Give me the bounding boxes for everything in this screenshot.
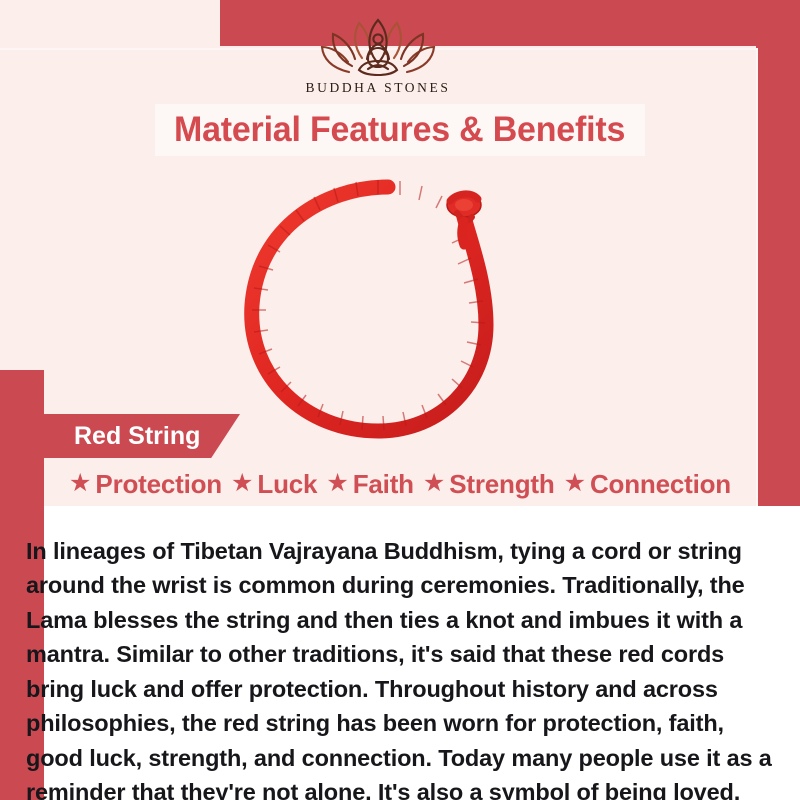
benefit-item: ★ Strength (423, 469, 555, 500)
brand-logo: BUDDHA STONES (0, 14, 756, 96)
benefit-label: Luck (257, 469, 317, 500)
benefit-item: ★ Protection (69, 469, 222, 500)
benefit-item: ★ Luck (231, 469, 317, 500)
benefits-list: ★ Protection ★ Luck ★ Faith ★ Strength ★… (44, 464, 756, 504)
star-icon: ★ (69, 471, 91, 496)
benefit-label: Protection (95, 469, 222, 500)
benefit-item: ★ Connection (564, 469, 731, 500)
star-icon: ★ (326, 471, 348, 496)
frame-hairline-right (756, 48, 758, 570)
page-title: Material Features & Benefits (155, 104, 645, 156)
lotus-meditation-figure-icon (319, 14, 437, 76)
benefit-label: Faith (353, 469, 414, 500)
material-banner: Red String (0, 414, 240, 458)
benefit-label: Strength (449, 469, 554, 500)
description-panel: In lineages of Tibetan Vajrayana Buddhis… (44, 506, 800, 800)
benefit-label: Connection (590, 469, 731, 500)
star-icon: ★ (423, 471, 445, 496)
infographic-poster: BUDDHA STONES Material Features & Benefi… (0, 0, 800, 800)
material-banner-label: Red String (74, 422, 200, 451)
star-icon: ★ (231, 471, 253, 496)
benefit-item: ★ Faith (326, 469, 414, 500)
figure-head (373, 34, 382, 43)
red-braided-string-bracelet-icon (228, 165, 528, 455)
brand-wordmark: BUDDHA STONES (0, 80, 756, 96)
star-icon: ★ (564, 471, 586, 496)
page-title-text: Material Features & Benefits (174, 110, 625, 150)
description-text: In lineages of Tibetan Vajrayana Buddhis… (26, 534, 778, 800)
